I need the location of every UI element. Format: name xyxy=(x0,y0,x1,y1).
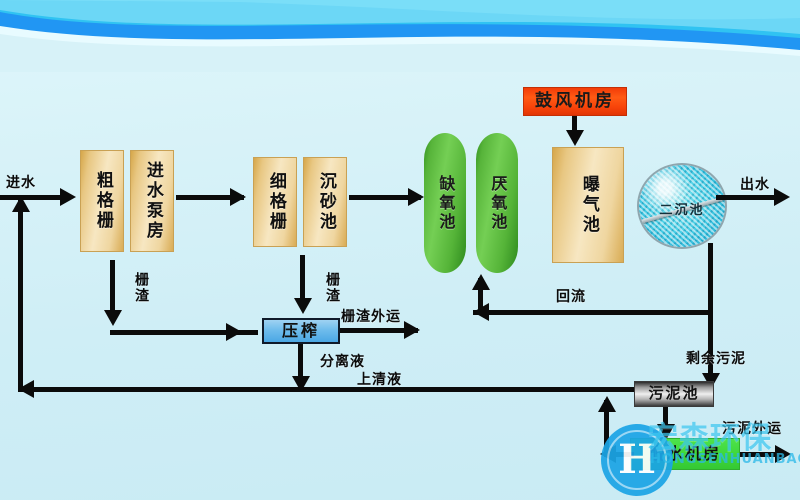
line-fine-screenings xyxy=(300,255,305,303)
arrow-grit-to-anoxic xyxy=(408,188,424,206)
arrow-coarse-screenings xyxy=(104,310,122,326)
arrow-return-riser xyxy=(12,196,30,212)
flow-label-supernatant: 上清液 xyxy=(357,369,402,389)
node-fine-screen[interactable]: 细格栅 xyxy=(253,157,297,247)
arrow-screenings-out xyxy=(404,321,420,339)
flow-label-return-sludge: 回流 xyxy=(556,286,586,306)
node-anoxic-tank-label: 缺氧池 xyxy=(437,175,454,232)
node-secondary-clarifier-label: 二沉池 xyxy=(639,199,725,218)
node-dewatering-room-label: 脱水机房 xyxy=(649,446,721,463)
node-press[interactable]: 压榨 xyxy=(262,318,340,344)
arrow-return-sludge-up xyxy=(472,274,490,290)
line-return-sludge xyxy=(473,310,710,315)
node-blower-room[interactable]: 鼓风机房 xyxy=(523,87,627,116)
flow-label-influent: 进水 xyxy=(6,172,36,192)
arrow-sludge-out xyxy=(775,445,791,463)
node-sludge-tank[interactable]: 污泥池 xyxy=(634,381,714,407)
flow-label-screenings-1: 栅渣 xyxy=(131,272,151,304)
node-dewatering-room[interactable]: 脱水机房 xyxy=(630,438,740,470)
process-flow-diagram: 进水 粗格栅 进水泵房 细格栅 沉砂池 缺氧池 厌氧池 曝气池 鼓风机房 二沉池 xyxy=(0,0,800,500)
node-inlet-pump-room[interactable]: 进水泵房 xyxy=(130,150,174,252)
node-grit-chamber-label: 沉砂池 xyxy=(316,172,334,232)
arrow-coarse-to-press xyxy=(226,323,242,341)
flow-label-screenings-2: 栅渣 xyxy=(322,272,342,304)
node-inlet-pump-room-label: 进水泵房 xyxy=(143,161,161,241)
node-fine-screen-label: 细格栅 xyxy=(266,172,284,232)
node-aeration-tank[interactable]: 曝气池 xyxy=(552,147,624,263)
flow-label-sludge-out: 污泥外运 xyxy=(722,418,782,438)
flow-label-separated-liquid: 分离液 xyxy=(320,351,365,371)
arrow-fine-screenings xyxy=(294,298,312,314)
node-anaerobic-tank-label: 厌氧池 xyxy=(489,175,506,232)
arrow-pump-to-fine-screen xyxy=(230,188,246,206)
flow-label-excess-sludge: 剩余污泥 xyxy=(686,348,746,368)
node-coarse-screen-label: 粗格栅 xyxy=(93,171,111,231)
arrow-dewater-filtrate-up xyxy=(598,396,616,412)
node-sludge-tank-label: 污泥池 xyxy=(648,386,699,402)
line-supernatant-return xyxy=(18,387,710,392)
node-press-label: 压榨 xyxy=(282,323,320,340)
node-grit-chamber[interactable]: 沉砂池 xyxy=(303,157,347,247)
arrow-effluent xyxy=(774,188,790,206)
node-anaerobic-tank[interactable]: 厌氧池 xyxy=(476,133,518,273)
node-blower-room-label: 鼓风机房 xyxy=(535,93,615,111)
flow-label-screenings-out: 栅渣外运 xyxy=(341,306,401,326)
header-wave-banner xyxy=(0,0,800,72)
node-aeration-tank-label: 曝气池 xyxy=(579,175,597,235)
node-anoxic-tank[interactable]: 缺氧池 xyxy=(424,133,466,273)
line-coarse-screenings xyxy=(110,260,115,315)
arrow-influent xyxy=(60,188,76,206)
node-secondary-clarifier[interactable]: 二沉池 xyxy=(637,163,727,249)
node-coarse-screen[interactable]: 粗格栅 xyxy=(80,150,124,252)
wave-graphic xyxy=(0,0,800,72)
flow-label-effluent: 出水 xyxy=(740,174,770,194)
arrow-blower-to-aeration xyxy=(566,130,584,146)
line-return-riser xyxy=(18,200,23,390)
